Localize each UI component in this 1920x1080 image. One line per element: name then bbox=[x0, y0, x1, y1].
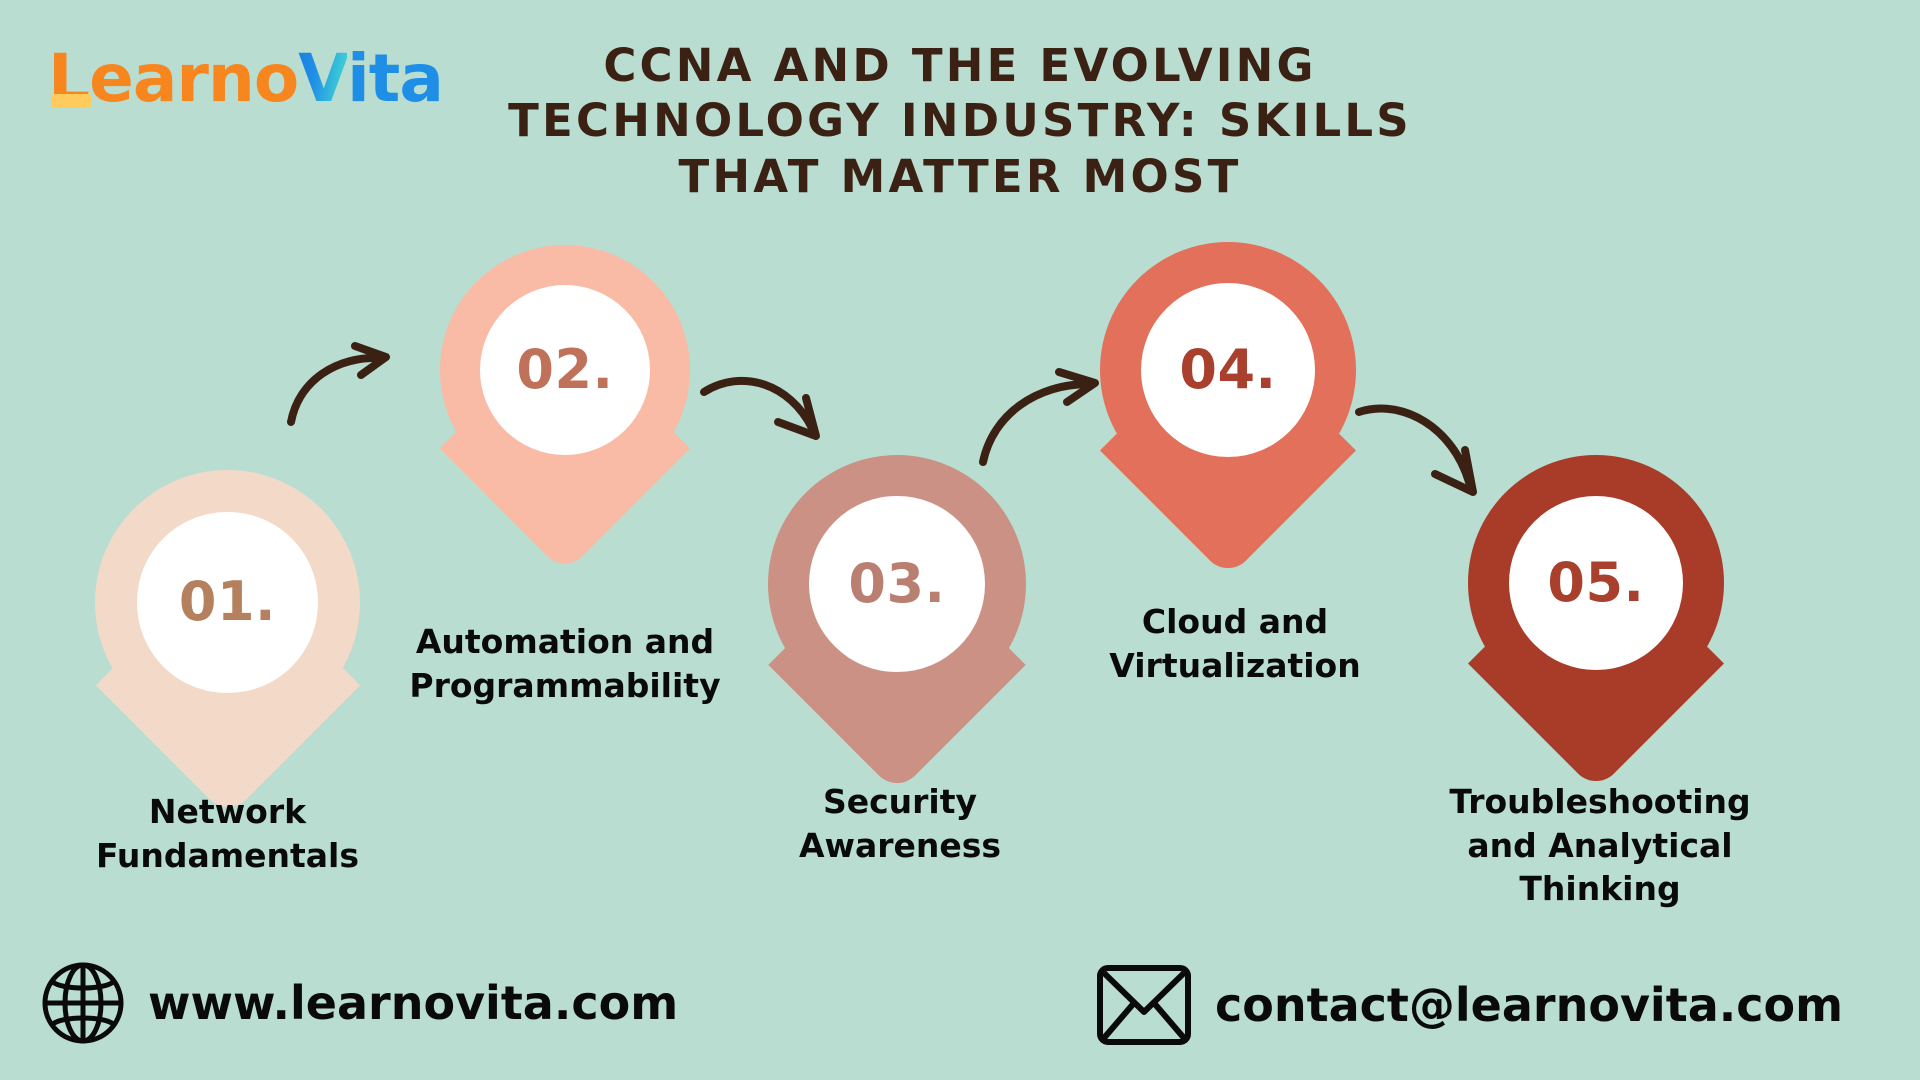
pin-inner-circle-2: 02. bbox=[480, 285, 650, 455]
logo-text-ita: ita bbox=[347, 40, 443, 117]
pin-shape-2: 02. bbox=[440, 245, 690, 495]
pin-shape-4: 04. bbox=[1100, 242, 1356, 498]
pin-shape-3: 03. bbox=[768, 455, 1026, 713]
step-pin-1[interactable]: 01. bbox=[95, 470, 360, 735]
step-number-4: 04. bbox=[1179, 343, 1276, 397]
pin-inner-circle-3: 03. bbox=[809, 496, 984, 671]
infographic-canvas: LearnoVita CCNA AND THE EVOLVING TECHNOL… bbox=[0, 0, 1920, 1080]
step-pin-4[interactable]: 04. bbox=[1100, 242, 1356, 498]
footer-email[interactable]: contact@learnovita.com bbox=[1095, 962, 1843, 1048]
step-number-3: 03. bbox=[848, 557, 945, 611]
logo-l-foot-accent bbox=[51, 94, 91, 108]
step-number-2: 02. bbox=[516, 343, 613, 397]
email-address[interactable]: contact@learnovita.com bbox=[1215, 982, 1843, 1028]
page-title: CCNA AND THE EVOLVING TECHNOLOGY INDUSTR… bbox=[480, 38, 1440, 204]
step-pin-2[interactable]: 02. bbox=[440, 245, 690, 495]
footer-website[interactable]: www.learnovita.com bbox=[40, 960, 678, 1046]
pin-inner-circle-5: 05. bbox=[1509, 496, 1683, 670]
step-label-3: Security Awareness bbox=[700, 780, 1100, 867]
step-number-5: 05. bbox=[1547, 556, 1644, 610]
step-number-1: 01. bbox=[179, 575, 276, 629]
page-title-line-2: TECHNOLOGY INDUSTRY: SKILLS bbox=[480, 93, 1440, 148]
step-label-4: Cloud and Virtualization bbox=[1035, 600, 1435, 687]
pin-shape-5: 05. bbox=[1468, 455, 1724, 711]
step-pin-3[interactable]: 03. bbox=[768, 455, 1026, 713]
website-url[interactable]: www.learnovita.com bbox=[148, 980, 678, 1026]
step-pin-5[interactable]: 05. bbox=[1468, 455, 1724, 711]
pin-inner-circle-1: 01. bbox=[137, 512, 317, 692]
page-title-line-3: THAT MATTER MOST bbox=[480, 149, 1440, 204]
logo-text-earno: earno bbox=[89, 40, 298, 117]
arrow-1-icon bbox=[285, 340, 405, 430]
page-title-line-1: CCNA AND THE EVOLVING bbox=[480, 38, 1440, 93]
envelope-icon bbox=[1095, 962, 1193, 1048]
step-label-1: Network Fundamentals bbox=[30, 790, 425, 877]
globe-icon bbox=[40, 960, 126, 1046]
step-label-2: Automation and Programmability bbox=[345, 620, 785, 707]
learnovita-logo: LearnoVita bbox=[48, 46, 443, 112]
pin-inner-circle-4: 04. bbox=[1141, 283, 1315, 457]
pin-shape-1: 01. bbox=[95, 470, 360, 735]
logo-letter-v: V bbox=[298, 40, 347, 117]
step-label-5: Troubleshooting and Analytical Thinking bbox=[1400, 780, 1800, 911]
